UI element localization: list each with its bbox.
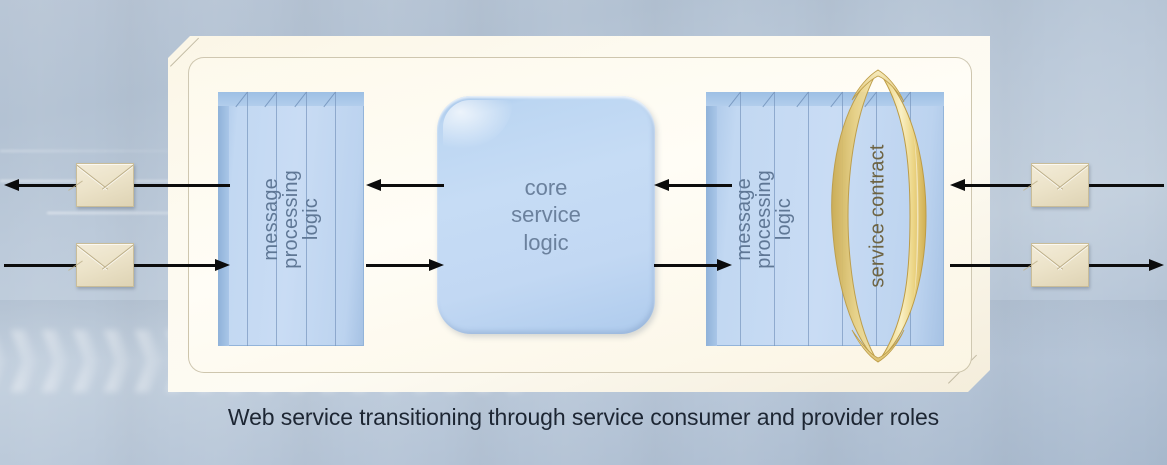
envelope-left-top [76,163,134,207]
background-chevron [11,330,37,392]
background-chevron [104,330,130,392]
right-stack-label-message: message [734,178,754,261]
background-chevron [42,330,68,392]
right-stack-labels: message processing logic [706,92,944,346]
left-message-processing-logic-stack: message processing logic [218,92,364,346]
left-stack-label-processing: processing [281,170,301,269]
left-stack-label-message: message [261,178,281,261]
envelope-right-top [1031,163,1089,207]
diagram-caption: Web service transitioning through servic… [0,404,1167,431]
envelope-left-bottom [76,243,134,287]
diagram-canvas: message processing logic core service lo… [0,0,1167,465]
left-stack-label-logic: logic [301,198,321,240]
right-stack-label-logic: logic [774,198,794,240]
left-stack-labels: message processing logic [218,92,364,346]
right-stack-label-processing: processing [754,170,774,269]
background-chevron [0,330,6,392]
core-service-logic-label: core service logic [511,174,581,255]
envelope-right-bottom [1031,243,1089,287]
background-chevron [135,330,161,392]
core-service-logic-box: core service logic [437,96,655,334]
background-chevron [73,330,99,392]
right-message-processing-logic-stack: message processing logic [706,92,944,346]
